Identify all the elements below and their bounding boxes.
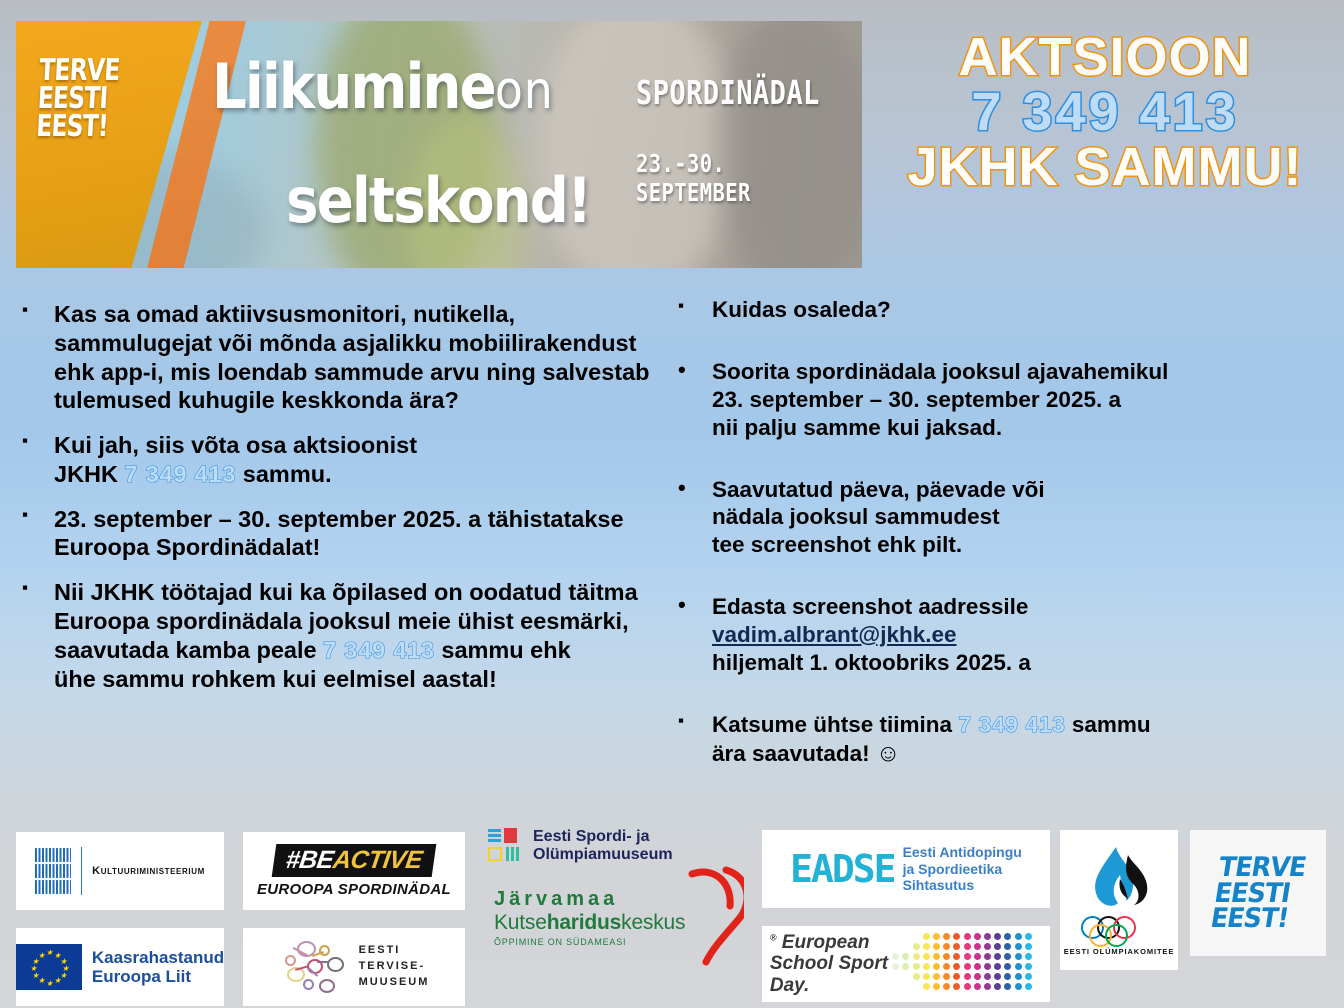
beactive-active: ACTIVE (331, 846, 424, 874)
left-text-column: ▪Kas sa omad aktiivsusmonitori, nutikell… (22, 300, 652, 709)
bullet-text: Edasta screenshot aadressilevadim.albran… (712, 593, 1328, 677)
bullet-text: Katsume ühtse tiimina 7 349 413 sammuära… (712, 711, 1328, 769)
text-run: sammu. (236, 461, 331, 487)
bullet-item: •Soorita spordinädala jooksul ajavahemik… (678, 358, 1328, 442)
eadse-label: Eesti Antidopingu ja Spordieetika Sihtas… (903, 844, 1022, 894)
essd-dot-pattern-icon (892, 933, 1042, 995)
spordimuuseum-label: Eesti Spordi- ja Olümpiamuuseum (533, 828, 673, 864)
terve-eesti-eest-wordmark: TERVEEESTIEEST! (1209, 855, 1308, 932)
banner-headline-line1: Liikumineon (212, 57, 582, 117)
essd-line2: School Sport (770, 953, 888, 974)
bullet-text: 23. september – 30. september 2025. a tä… (54, 505, 652, 563)
essd-label: ® European School Sport Day. (770, 932, 888, 996)
eadse-wordmark: EADSE (790, 847, 894, 891)
essd-registered-icon: ® (770, 933, 777, 943)
beactive-hash: #BE (284, 846, 335, 874)
banner-headline-line2: seltskond! (286, 171, 656, 231)
bullet-text: Soorita spordinädala jooksul ajavahemiku… (712, 358, 1328, 442)
bullet-square-icon: ▪ (22, 431, 54, 452)
right-text-column: ▪Kuidas osaleda?•Soorita spordinädala jo… (678, 296, 1328, 803)
text-run: Edasta screenshot aadressile (712, 594, 1028, 619)
eok-label: EESTI OLÜMPIAKOMITEE (1064, 947, 1175, 956)
spordimuuseum-line1: Eesti Spordi- ja (533, 828, 673, 846)
text-run: nii palju samme kui jaksad. (712, 415, 1002, 440)
headline-line-step-count: 7 349 413 (880, 85, 1330, 140)
jarvamaa-kutse: Kutse (494, 911, 547, 934)
bullet-square-icon: ▪ (22, 300, 54, 321)
logo-euroopa-liit-label: Kaasrahastanud Euroopa Liit (92, 948, 224, 986)
bullet-square-icon: ▪ (678, 711, 712, 732)
tervisemuuseum-network-icon (279, 939, 349, 995)
logo-jarvamaa-kutsehariduskeskus: Järvamaa Kutsehariduskeskus ÕPPIMINE ON … (494, 888, 744, 947)
bullet-text: Kui jah, siis võta osa aktsioonistJKHK 7… (54, 431, 652, 489)
logo-eadse: EADSE Eesti Antidopingu ja Spordieetika … (762, 830, 1050, 908)
tervisemuuseum-line2: TERVISE- (359, 959, 430, 975)
beactive-subtitle: EUROOPA SPORDINÄDAL (257, 881, 451, 898)
text-run: sammu ehk (435, 637, 571, 663)
eu-flag-icon: ★★ ★★ ★★ ★★ ★★ ★★ (16, 944, 82, 990)
logo-euroopa-liit: ★★ ★★ ★★ ★★ ★★ ★★ Kaasrahastanud Euroopa… (16, 928, 224, 1006)
text-run: ära saavutada! (712, 741, 876, 766)
text-run: Kui jah, siis võta osa aktsioonist (54, 432, 417, 458)
text-run: nädala jooksul sammudest (712, 504, 1000, 529)
text-run: Saavutatud päeva, päevade või (712, 477, 1045, 502)
text-run: JKHK (54, 461, 125, 487)
bullet-dot-icon: • (678, 593, 712, 616)
bullet-text: Kuidas osaleda? (712, 296, 1328, 324)
text-run: sammu (1066, 712, 1151, 737)
eu-label-line2: Euroopa Liit (92, 967, 224, 986)
text-run: 23. september – 30. september 2025. a (712, 387, 1121, 412)
spordimuuseum-mark-icon (488, 828, 524, 864)
bullet-text: Kas sa omad aktiivsusmonitori, nutikella… (54, 300, 652, 415)
bullet-item: ▪Kas sa omad aktiivsusmonitori, nutikell… (22, 300, 652, 415)
text-run: hiljemalt 1. oktoobriks 2025. a (712, 650, 1031, 675)
bullet-item: ▪Kuidas osaleda? (678, 296, 1328, 324)
olympic-rings-icon (1081, 916, 1157, 942)
text-run: tee screenshot ehk pilt. (712, 532, 962, 557)
bullet-item: ▪Kui jah, siis võta osa aktsioonistJKHK … (22, 431, 652, 489)
logo-european-school-sport-day: ® European School Sport Day. (762, 926, 1050, 1002)
tervisemuuseum-line3: MUUSEUM (359, 975, 430, 991)
jarvamaa-haridus: haridus (547, 911, 621, 934)
divider (81, 847, 82, 895)
text-run: Katsume ühtse tiimina (712, 712, 958, 737)
bullet-item: ▪Nii JKHK töötajad kui ka õpilased on oo… (22, 578, 652, 693)
jarvamaa-keskus: keskus (621, 911, 685, 934)
logo-eesti-tervisemuuseum: EESTI TERVISE- MUUSEUM (243, 928, 465, 1006)
bullet-square-icon: ▪ (22, 505, 54, 526)
email-link[interactable]: vadim.albrant@jkhk.ee (712, 621, 957, 649)
step-count-value: 7 349 413 (125, 461, 237, 487)
sports-week-banner-image: TERVEEESTIEEST! Liikumineon seltskond! S… (16, 21, 862, 268)
bullet-square-icon: ▪ (678, 296, 712, 317)
tervisemuuseum-line1: EESTI (359, 943, 430, 959)
bullet-item: • Edasta screenshot aadressilevadim.albr… (678, 593, 1328, 677)
banner-sportsweek-title: SPORDINÄDAL (636, 73, 820, 112)
text-run: Kuidas osaleda? (712, 297, 891, 322)
headline-line-jkhk-sammu: JKHK SAMMU! (880, 140, 1330, 195)
spordimuuseum-line2: Olümpiamuuseum (533, 846, 673, 864)
campaign-headline: AKTSIOON 7 349 413 JKHK SAMMU! (880, 30, 1330, 195)
bullet-item: ▪23. september – 30. september 2025. a t… (22, 505, 652, 563)
eu-label-line1: Kaasrahastanud (92, 948, 224, 967)
step-count-value: 7 349 413 (958, 712, 1065, 737)
tervisemuuseum-label: EESTI TERVISE- MUUSEUM (359, 943, 430, 991)
step-count-value: 7 349 413 (323, 637, 435, 663)
text-run: Kas sa omad aktiivsusmonitori, nutikella… (54, 301, 650, 413)
sponsor-logo-row: Kultuuriministeerium ★★ ★★ ★★ ★★ ★★ ★★ K… (0, 828, 1344, 1008)
text-run: Soorita spordinädala jooksul ajavahemiku… (712, 359, 1168, 384)
bullet-dot-icon: • (678, 358, 712, 381)
bullet-dot-icon: • (678, 476, 712, 499)
essd-line1: ® European (770, 932, 888, 953)
banner-terve-eesti-eest-logo: TERVEEESTIEEST! (35, 57, 122, 142)
logo-terve-eesti-eest: TERVEEESTIEEST! (1190, 830, 1326, 956)
olympic-flame-icon (1082, 845, 1156, 913)
estonian-coat-of-arms-icon (35, 848, 71, 894)
banner-sportsweek-dates: 23.-30. SEPTEMBER (636, 149, 821, 207)
eadse-line3: Sihtasutus (903, 877, 1022, 894)
logo-beactive: #BEACTIVE EUROOPA SPORDINÄDAL (243, 832, 465, 910)
logo-eesti-olumpiakomitee: EESTI OLÜMPIAKOMITEE (1060, 830, 1178, 970)
bullet-text: Nii JKHK töötajad kui ka õpilased on ood… (54, 578, 652, 693)
text-run: ühe sammu rohkem kui eelmisel aastal! (54, 666, 497, 692)
banner-bokeh-shape (716, 21, 862, 268)
eadse-line1: Eesti Antidopingu (903, 844, 1022, 861)
smiley-icon: ☺ (876, 740, 901, 767)
bullet-item: • Saavutatud päeva, päevade võinädala jo… (678, 476, 1328, 560)
banner-headline-on: on (495, 61, 554, 121)
headline-line-aktsioon: AKTSIOON (880, 30, 1330, 85)
logo-kultuuriministeerium: Kultuuriministeerium (16, 832, 224, 910)
essd-line3: Day. (770, 975, 888, 996)
banner-headline-word: Liikumine (212, 50, 495, 123)
text-run: 23. september – 30. september 2025. a tä… (54, 506, 624, 561)
beactive-wordmark: #BEACTIVE (272, 844, 436, 877)
bullet-item: ▪Katsume ühtse tiimina 7 349 413 sammuär… (678, 711, 1328, 769)
logo-group-spordimuuseum-jarvamaa: Eesti Spordi- ja Olümpiamuuseum Järvamaa… (484, 828, 744, 998)
jarvamaa-swoosh-icon (686, 858, 744, 968)
logo-kultuuriministeerium-label: Kultuuriministeerium (92, 865, 205, 877)
eadse-line2: ja Spordieetika (903, 861, 1022, 878)
bullet-text: Saavutatud päeva, päevade võinädala jook… (712, 476, 1328, 560)
bullet-square-icon: ▪ (22, 578, 54, 599)
